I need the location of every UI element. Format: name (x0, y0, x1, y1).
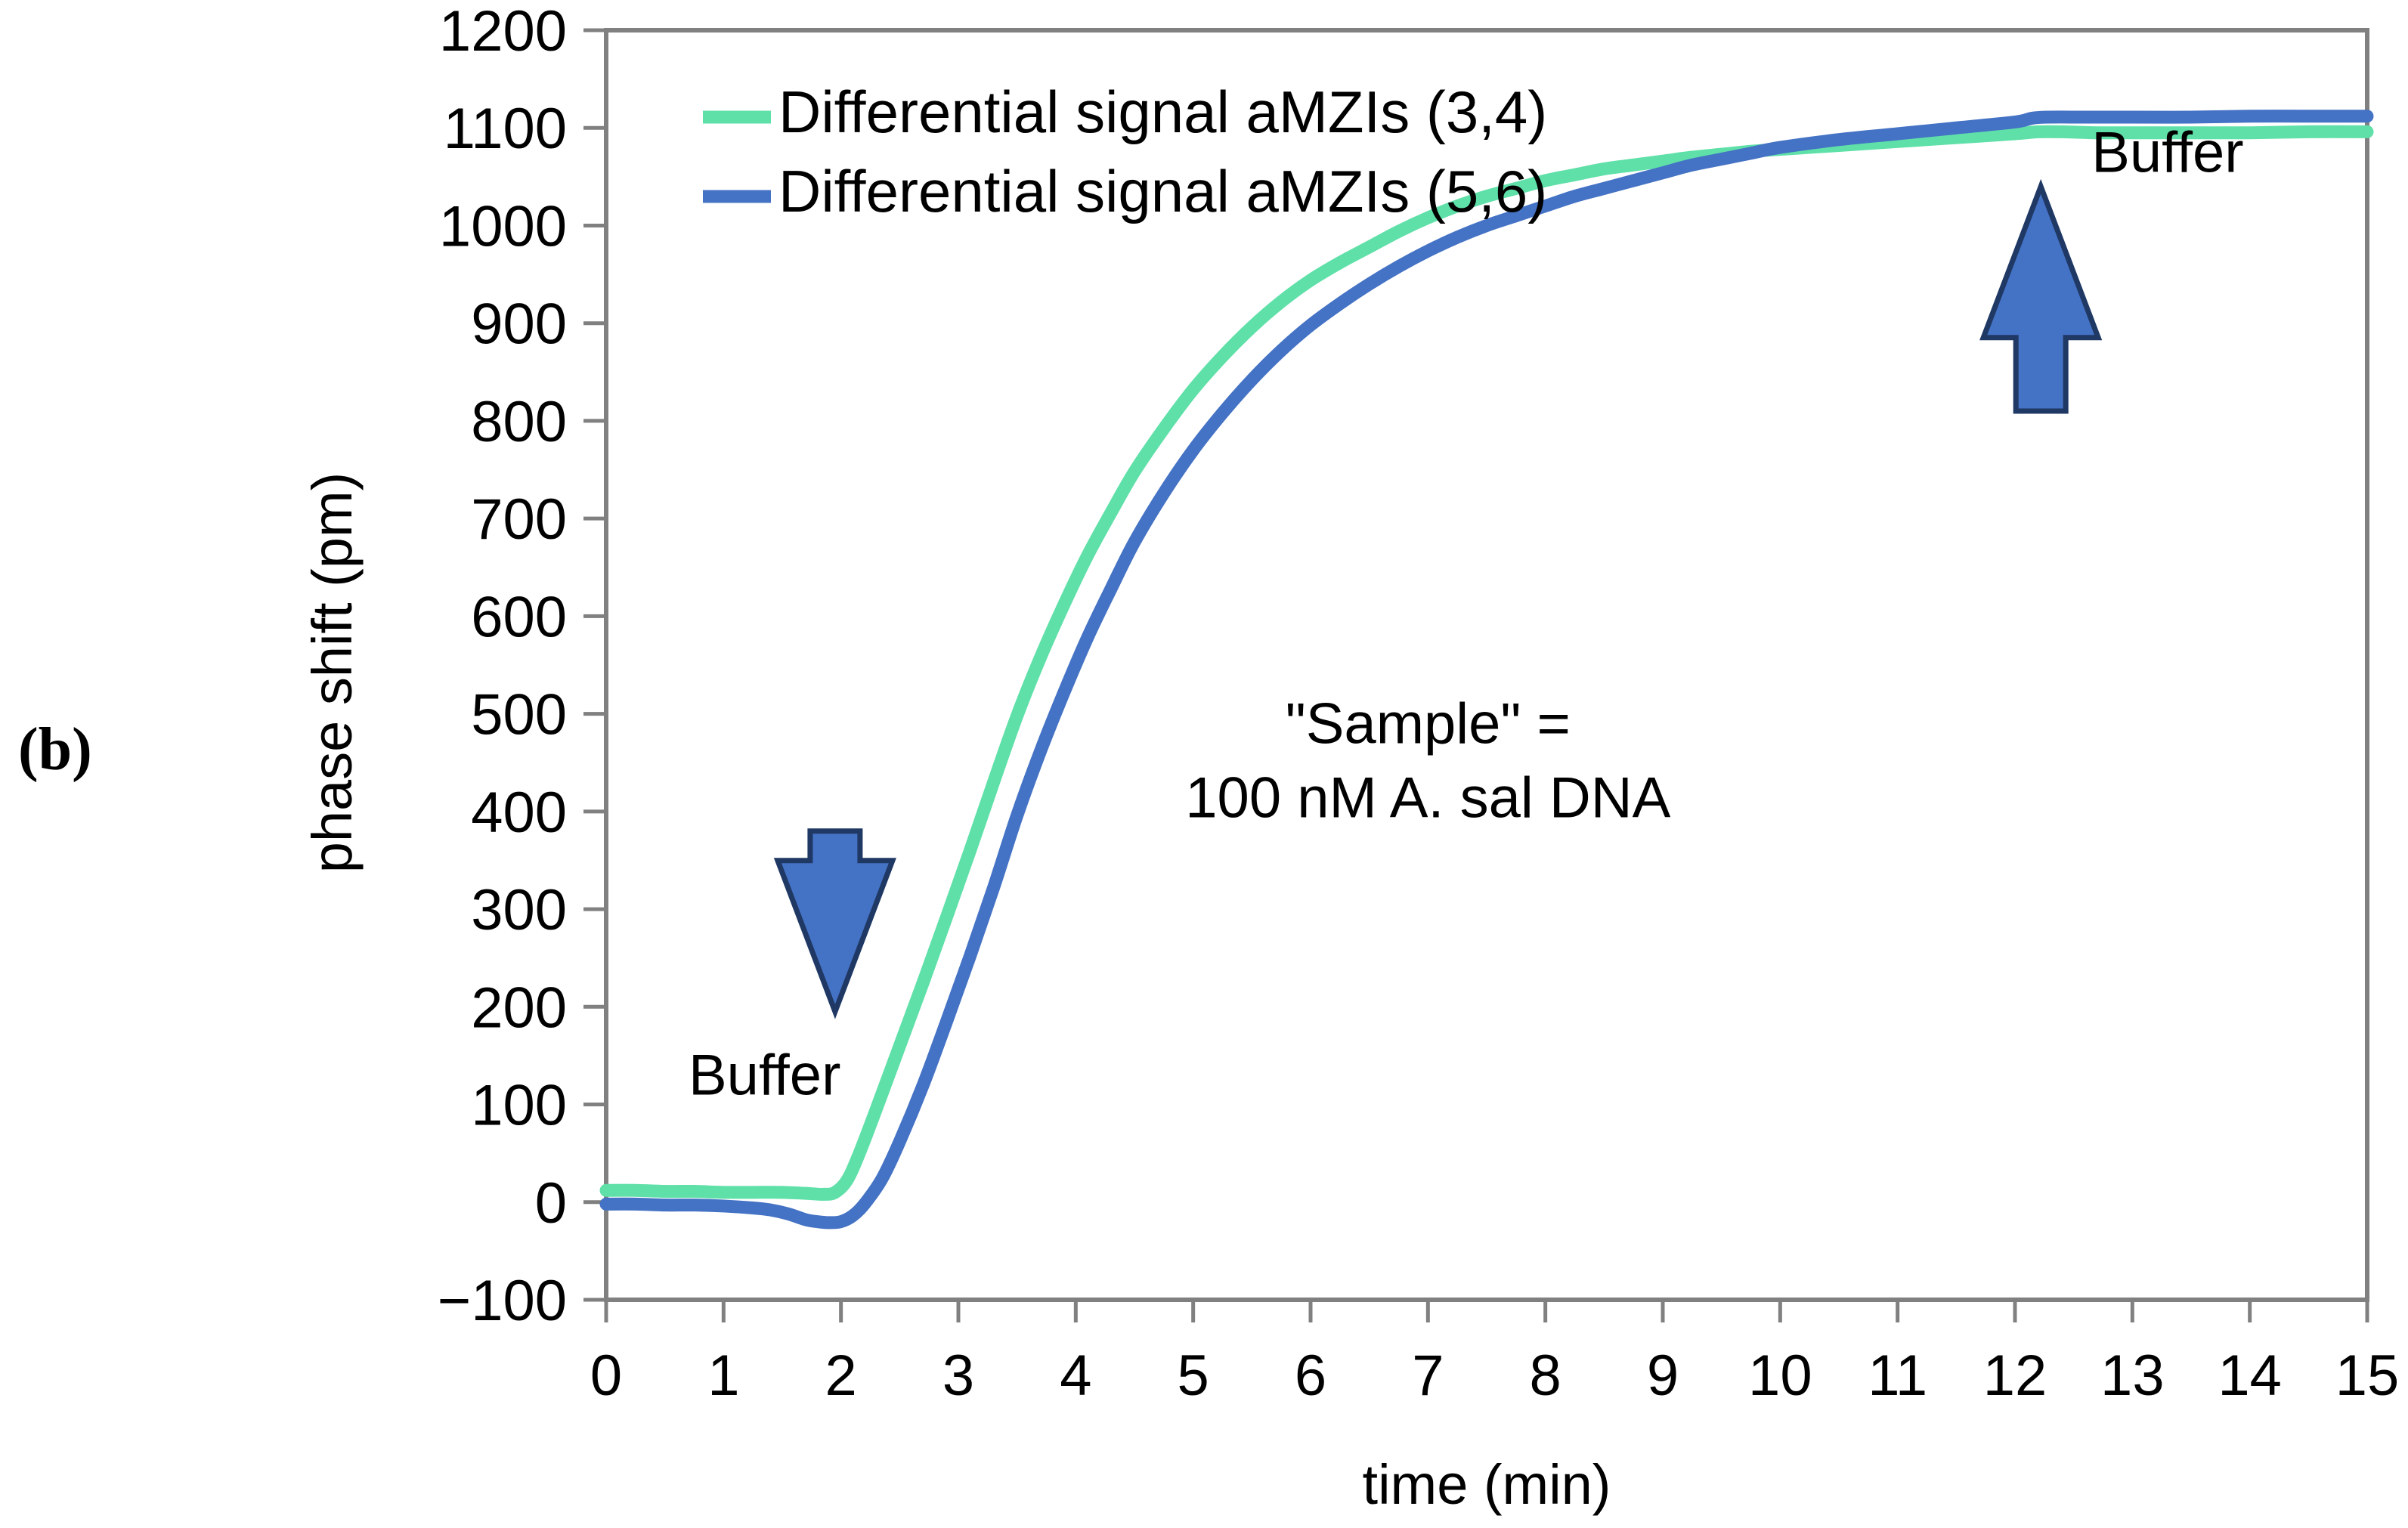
x-axis-ticks (606, 1300, 2367, 1322)
x-tick-label-7: 7 (1412, 1344, 1444, 1408)
x-axis-tick-labels: 0123456789101112131415 (590, 1344, 2399, 1408)
sample-annotation-line-1: "Sample" = (1286, 691, 1571, 756)
buffer-label-right-line-1: Buffer (2091, 120, 2243, 184)
x-tick-label-8: 8 (1530, 1344, 1561, 1408)
y-tick-label-800: 800 (471, 390, 567, 454)
legend-label-1[interactable]: Differential signal aMZIs (3,4) (778, 79, 1547, 145)
y-tick-label-400: 400 (471, 781, 567, 845)
x-tick-label-0: 0 (590, 1344, 622, 1408)
y-axis-ticks (583, 30, 606, 1300)
y-tick-label-600: 600 (471, 585, 567, 649)
buffer-label-left-line-1: Buffer (689, 1044, 840, 1108)
x-tick-label-6: 6 (1295, 1344, 1326, 1408)
x-tick-label-4: 4 (1060, 1344, 1091, 1408)
sample-annotation-line-2: 100 nM A. sal DNA (1185, 766, 1670, 830)
x-tick-label-13: 13 (2100, 1344, 2165, 1408)
y-tick-label-500: 500 (471, 683, 567, 747)
y-tick-label-1100: 1100 (444, 97, 567, 161)
y-tick-label-1000: 1000 (439, 194, 567, 258)
y-tick-label-1200: 1200 (439, 0, 567, 63)
x-tick-label-12: 12 (1983, 1344, 2047, 1408)
x-tick-label-3: 3 (942, 1344, 974, 1408)
y-tick-label-0: 0 (535, 1171, 567, 1236)
x-tick-label-1: 1 (707, 1344, 739, 1408)
legend-label-2[interactable]: Differential signal aMZIs (5,6) (778, 158, 1547, 224)
x-tick-label-2: 2 (825, 1344, 857, 1408)
y-tick-label-200: 200 (471, 976, 567, 1040)
y-tick-label-100: 100 (471, 1074, 567, 1138)
x-tick-label-10: 10 (1748, 1344, 1812, 1408)
y-axis-title: phase shift (pm) (301, 472, 364, 874)
y-axis-tick-labels: 1200110010009008007006005004003002001000… (438, 0, 567, 1333)
x-tick-label-5: 5 (1178, 1344, 1209, 1408)
x-tick-label-11: 11 (1868, 1344, 1927, 1408)
x-tick-label-14: 14 (2218, 1344, 2282, 1408)
y-tick-label-700: 700 (471, 487, 567, 552)
y-tick-label-900: 900 (471, 292, 567, 357)
figure-panel-b: (b) 120011001000900800700600500400300200… (0, 0, 2408, 1528)
x-tick-label-15: 15 (2335, 1344, 2400, 1408)
y-tick-label--100: −100 (438, 1269, 567, 1333)
phase-shift-line-chart: 1200110010009008007006005004003002001000… (0, 0, 2408, 1528)
x-axis-title: time (min) (1363, 1453, 1611, 1516)
y-tick-label-300: 300 (471, 878, 567, 942)
x-tick-label-9: 9 (1647, 1344, 1679, 1408)
